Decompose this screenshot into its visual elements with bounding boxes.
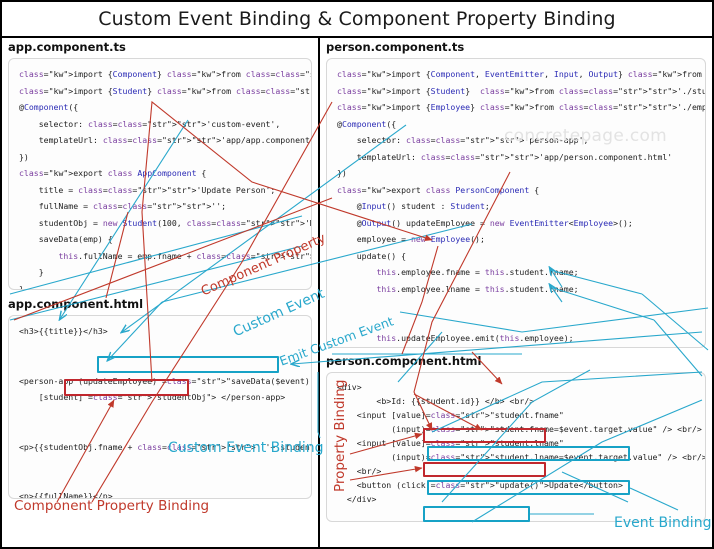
person-component-ts-code: class="kw">import {Component, EventEmitt… xyxy=(337,66,699,348)
diagram-title-bar: Custom Event Binding & Component Propert… xyxy=(2,2,712,38)
left-column: app.component.ts class="kw">import {Comp… xyxy=(2,38,320,549)
app-component-ts-codebox: class="kw">import {Component} class="kw"… xyxy=(8,58,312,290)
app-component-ts-header: app.component.ts xyxy=(2,38,318,56)
right-column: person.component.ts class="kw">import {C… xyxy=(320,38,712,549)
app-component-html-code: <h3>{{title}}</h3> <person-app (updateEm… xyxy=(19,323,305,499)
person-component-html-codebox: <div> <b>Id: {{student.id}} </b> <br/> <… xyxy=(326,372,706,522)
person-component-html-code: <div> <b>Id: {{student.id}} </b> <br/> <… xyxy=(337,380,699,506)
app-component-html-codebox: <h3>{{title}}</h3> <person-app (updateEm… xyxy=(8,315,312,499)
app-component-ts-code: class="kw">import {Component} class="kw"… xyxy=(19,66,305,290)
person-component-ts-header: person.component.ts xyxy=(320,38,712,56)
page-title: Custom Event Binding & Component Propert… xyxy=(98,8,615,30)
person-component-ts-codebox: class="kw">import {Component, EventEmitt… xyxy=(326,58,706,348)
diagram-root: Custom Event Binding & Component Propert… xyxy=(0,0,714,549)
person-component-html-header: person.component.html xyxy=(320,352,712,370)
app-component-html-header: app.component.html xyxy=(2,295,318,313)
